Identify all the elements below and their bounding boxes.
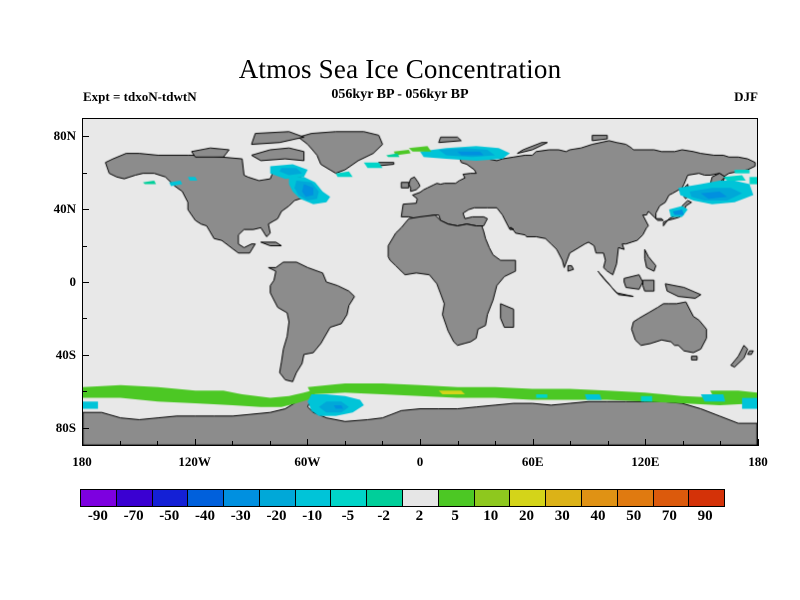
colorbar-tick-label: 30 bbox=[555, 508, 570, 525]
colorbar-tick-label: 90 bbox=[698, 508, 713, 525]
season-label: DJF bbox=[734, 89, 758, 105]
y-axis-label: 40S bbox=[34, 347, 76, 363]
figure-subtitle: 056kyr BP - 056kyr BP bbox=[180, 87, 620, 103]
figure-canvas: Atmos Sea Ice Concentration 056kyr BP - … bbox=[0, 0, 800, 600]
map-data-layer bbox=[83, 119, 757, 445]
colorbar-tick-label: 2 bbox=[416, 508, 424, 525]
y-tick bbox=[82, 391, 87, 392]
x-axis-label: 180 bbox=[748, 454, 768, 470]
colorbar bbox=[80, 489, 725, 507]
colorbar-tick-labels: -90-70-50-40-30-20-10-5-2251020304050709… bbox=[0, 508, 800, 528]
colorbar-tick-label: 70 bbox=[662, 508, 677, 525]
colorbar-cell bbox=[81, 490, 117, 506]
colorbar-cell bbox=[689, 490, 724, 506]
colorbar-cell bbox=[403, 490, 439, 506]
colorbar-tick-label: -10 bbox=[302, 508, 322, 525]
map-plot-area bbox=[82, 118, 758, 446]
y-tick bbox=[82, 136, 89, 137]
x-axis-label: 120W bbox=[178, 454, 211, 470]
x-tick bbox=[645, 439, 646, 446]
x-tick bbox=[195, 439, 196, 446]
y-tick bbox=[82, 282, 89, 283]
experiment-label: Expt = tdxoN-tdwtN bbox=[83, 89, 197, 105]
colorbar-cell bbox=[546, 490, 582, 506]
x-axis-label: 60E bbox=[522, 454, 544, 470]
colorbar-tick-label: -40 bbox=[195, 508, 215, 525]
x-tick bbox=[570, 441, 571, 446]
colorbar-cell bbox=[117, 490, 153, 506]
x-tick bbox=[382, 441, 383, 446]
x-tick bbox=[758, 439, 759, 446]
colorbar-tick-label: 10 bbox=[483, 508, 498, 525]
colorbar-tick-label: -30 bbox=[231, 508, 251, 525]
colorbar-tick-label: 5 bbox=[451, 508, 459, 525]
x-tick bbox=[120, 441, 121, 446]
colorbar-tick-label: 50 bbox=[626, 508, 641, 525]
x-tick bbox=[720, 441, 721, 446]
colorbar-tick-label: -50 bbox=[159, 508, 179, 525]
colorbar-cell bbox=[439, 490, 475, 506]
y-tick bbox=[82, 246, 87, 247]
x-tick bbox=[420, 439, 421, 446]
colorbar-tick-label: -90 bbox=[88, 508, 108, 525]
colorbar-cell bbox=[296, 490, 332, 506]
x-tick bbox=[232, 441, 233, 446]
colorbar-cell bbox=[153, 490, 189, 506]
x-tick bbox=[533, 439, 534, 446]
colorbar-cell bbox=[224, 490, 260, 506]
y-tick bbox=[82, 318, 87, 319]
y-axis-label: 40N bbox=[34, 201, 76, 217]
x-axis-label: 0 bbox=[417, 454, 424, 470]
colorbar-tick-label: -70 bbox=[124, 508, 144, 525]
colorbar-cell bbox=[260, 490, 296, 506]
colorbar-tick-label: 40 bbox=[590, 508, 605, 525]
x-tick bbox=[270, 441, 271, 446]
colorbar-cell bbox=[331, 490, 367, 506]
colorbar-cell bbox=[654, 490, 690, 506]
x-axis-label: 120E bbox=[631, 454, 659, 470]
colorbar-tick-label: -5 bbox=[342, 508, 355, 525]
page-title: Atmos Sea Ice Concentration bbox=[0, 54, 800, 85]
y-tick bbox=[82, 209, 89, 210]
x-tick bbox=[345, 441, 346, 446]
x-tick bbox=[82, 439, 83, 446]
x-tick bbox=[495, 441, 496, 446]
colorbar-cell bbox=[510, 490, 546, 506]
y-tick bbox=[82, 173, 87, 174]
x-axis-label: 60W bbox=[294, 454, 320, 470]
colorbar-tick-label: -20 bbox=[266, 508, 286, 525]
x-tick bbox=[458, 441, 459, 446]
y-axis-label: 0 bbox=[34, 274, 76, 290]
colorbar-cell bbox=[618, 490, 654, 506]
colorbar-tick-label: 20 bbox=[519, 508, 534, 525]
x-tick bbox=[157, 441, 158, 446]
y-axis-label: 80S bbox=[34, 420, 76, 436]
x-axis-label: 180 bbox=[72, 454, 92, 470]
x-tick bbox=[307, 439, 308, 446]
y-axis-label: 80N bbox=[34, 128, 76, 144]
x-tick bbox=[683, 441, 684, 446]
x-tick bbox=[608, 441, 609, 446]
colorbar-cell bbox=[367, 490, 403, 506]
y-tick bbox=[82, 355, 89, 356]
colorbar-cell bbox=[582, 490, 618, 506]
colorbar-cell bbox=[475, 490, 511, 506]
colorbar-cell bbox=[188, 490, 224, 506]
colorbar-tick-label: -2 bbox=[377, 508, 390, 525]
y-tick bbox=[82, 428, 89, 429]
